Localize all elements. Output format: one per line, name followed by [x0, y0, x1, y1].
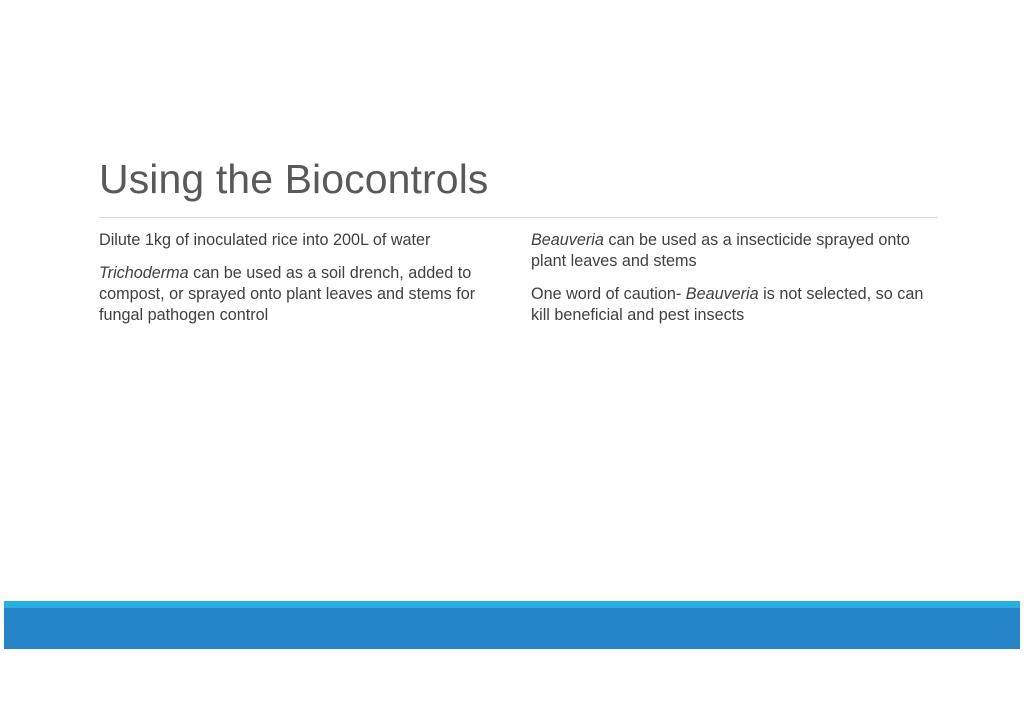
content-columns: Dilute 1kg of inoculated rice into 200L … [99, 230, 939, 326]
footer-accent-strip-light [4, 601, 1020, 608]
paragraph-dilution-instruction: Dilute 1kg of inoculated rice into 200L … [99, 230, 505, 251]
content-column-left: Dilute 1kg of inoculated rice into 200L … [99, 230, 505, 326]
italic-species-name: Beauveria [531, 231, 604, 249]
footer-accent-bar [4, 601, 1020, 649]
footer-accent-strip-dark [4, 608, 1020, 649]
paragraph-beauveria-caution: One word of caution- Beauveria is not se… [531, 284, 937, 326]
paragraph-trichoderma-usage: Trichoderma can be used as a soil drench… [99, 263, 505, 326]
page-title: Using the Biocontrols [99, 155, 939, 203]
italic-species-name: Beauveria [686, 285, 759, 303]
presentation-slide: Using the Biocontrols Dilute 1kg of inoc… [0, 0, 1024, 724]
title-divider-rule [99, 217, 938, 218]
paragraph-beauveria-usage: Beauveria can be used as a insecticide s… [531, 230, 937, 272]
italic-species-name: Trichoderma [99, 264, 189, 282]
title-block: Using the Biocontrols [99, 155, 939, 203]
content-column-right: Beauveria can be used as a insecticide s… [531, 230, 937, 326]
